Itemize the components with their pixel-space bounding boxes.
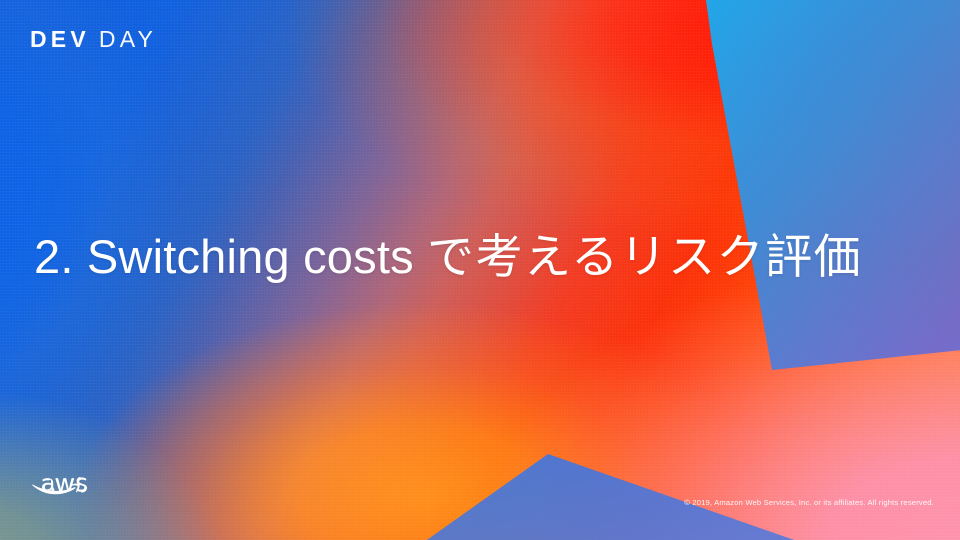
slide-title-english: Switching costs (87, 230, 414, 283)
aws-logo (30, 470, 92, 504)
footer-copyright: © 2019, Amazon Web Services, Inc. or its… (684, 498, 934, 507)
wordmark-dev: DEV (30, 28, 90, 51)
slide-root: DEV DAY 2. Switching costs で考えるリスク評価 © 2… (0, 0, 960, 540)
slide-title-number: 2. (34, 230, 74, 283)
slide-title: 2. Switching costs で考えるリスク評価 (34, 228, 934, 285)
wordmark-day: DAY (99, 28, 157, 51)
blue-quadrilateral-top-right (706, 0, 960, 370)
slide-title-japanese: で考えるリスク評価 (427, 230, 862, 283)
devday-wordmark: DEV DAY (30, 28, 157, 51)
blue-triangle-bottom-center (424, 454, 800, 540)
